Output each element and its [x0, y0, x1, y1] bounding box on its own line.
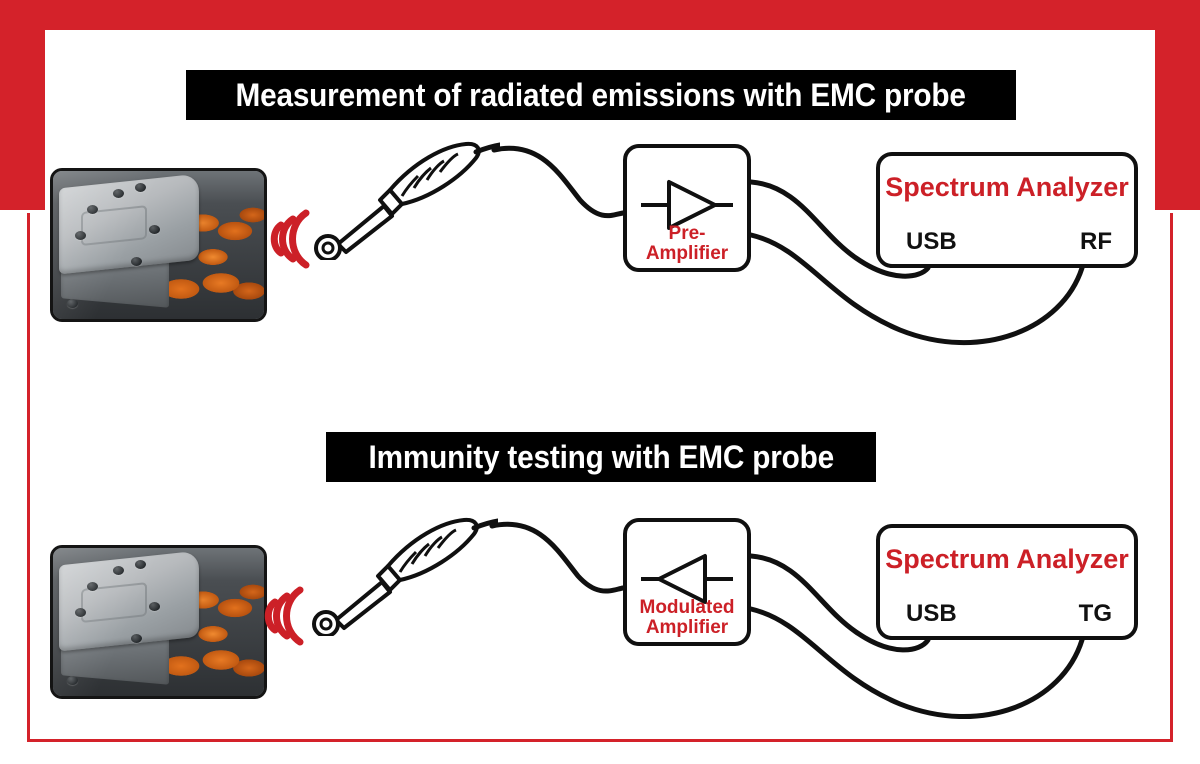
modulated-amplifier-label: Modulated Amplifier: [627, 598, 747, 638]
panel-title-text: Measurement of radiated emissions with E…: [236, 77, 966, 114]
frame-right-band: [1155, 0, 1200, 213]
panel-title-radiated-emissions: Measurement of radiated emissions with E…: [186, 70, 1016, 120]
analyzer-port-rf-1[interactable]: RF: [1080, 228, 1112, 256]
analyzer-port-usb-1[interactable]: USB: [906, 228, 957, 256]
emc-probe-icon-1: [310, 140, 500, 260]
pre-amplifier-label: Pre- Amplifier: [627, 224, 747, 264]
amplifier-label-line2: Amplifier: [627, 618, 747, 638]
spectrum-analyzer-title-1: Spectrum Analyzer: [880, 172, 1134, 203]
amplifier-label-line1: Modulated: [627, 598, 747, 618]
panel-title-immunity-testing: Immunity testing with EMC probe: [326, 432, 876, 482]
emc-probe-icon-2: [308, 516, 498, 636]
analyzer-port-tg-2[interactable]: TG: [1079, 600, 1112, 628]
dut-image: [53, 548, 264, 696]
cable-probe-to-amplifier-1: [494, 148, 623, 215]
rf-emission-waves-icon-2: [262, 582, 308, 650]
dut-highlight: [53, 548, 264, 696]
amplifier-label-line2: Amplifier: [627, 244, 747, 264]
frame-left-band: [0, 0, 45, 213]
dut-highlight: [53, 171, 264, 319]
frame-right-rule: [1170, 213, 1173, 742]
dut-photo-radiated-emissions: [50, 168, 267, 322]
dut-image: [53, 171, 264, 319]
frame-left-rule: [27, 213, 30, 742]
rf-emission-waves-icon-1: [268, 205, 314, 273]
amplifier-label-line1: Pre-: [627, 224, 747, 244]
analyzer-port-usb-2[interactable]: USB: [906, 600, 957, 628]
spectrum-analyzer-title-2: Spectrum Analyzer: [880, 544, 1134, 575]
panel-title-text: Immunity testing with EMC probe: [368, 439, 833, 476]
spectrum-analyzer-box-1[interactable]: Spectrum Analyzer USB RF: [876, 152, 1138, 268]
frame-bottom-rule: [27, 739, 1173, 742]
frame-right-notch: [1155, 210, 1200, 215]
spectrum-analyzer-box-2[interactable]: Spectrum Analyzer USB TG: [876, 524, 1138, 640]
cable-probe-to-amplifier-2: [492, 524, 623, 591]
pre-amplifier-box[interactable]: Pre- Amplifier: [623, 144, 751, 272]
frame-top-band: [0, 0, 1200, 30]
diagram-canvas: Measurement of radiated emissions with E…: [0, 0, 1200, 764]
dut-photo-immunity-testing: [50, 545, 267, 699]
modulated-amplifier-box[interactable]: Modulated Amplifier: [623, 518, 751, 646]
frame-left-notch: [0, 210, 45, 215]
